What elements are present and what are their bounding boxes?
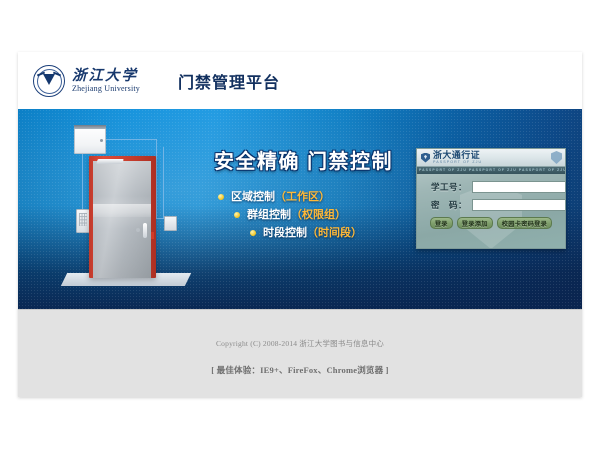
site-footer: Copyright (C) 2008-2014 浙江大学图书与信息中心 [ 最佳… bbox=[18, 309, 582, 397]
controller-box-icon bbox=[74, 125, 106, 154]
wire-right bbox=[156, 139, 157, 219]
door-handle-icon bbox=[143, 223, 147, 238]
login-panel-subtitle: PASSPORT OF ZJU bbox=[433, 160, 482, 165]
student-staff-id-label: 学工号： bbox=[425, 181, 467, 193]
feature-main: 区域控制 bbox=[231, 188, 275, 206]
slogan-title: 安全精确 门禁控制 bbox=[196, 145, 411, 174]
feature-sub: （工作区） bbox=[275, 188, 330, 206]
university-name-en: Zhejiang University bbox=[72, 84, 140, 94]
list-item: 时段控制 （时间段） bbox=[196, 224, 411, 242]
door-panel bbox=[93, 161, 151, 278]
wire-right-2 bbox=[163, 147, 164, 219]
field-row-id: 学工号： bbox=[425, 181, 557, 193]
list-item: 区域控制 （工作区） bbox=[196, 188, 411, 206]
keypad-icon bbox=[76, 209, 90, 233]
door-frame bbox=[89, 156, 156, 278]
list-item: 群组控制 （权限组） bbox=[196, 206, 411, 224]
field-row-password: 密 码： bbox=[425, 199, 557, 211]
bullet-dot-icon bbox=[250, 230, 256, 236]
passport-strip: PASSPORT OF ZJU PASSPORT OF ZJU PASSPORT… bbox=[417, 167, 565, 174]
shield-icon-decor bbox=[551, 151, 562, 164]
page-title: 门禁管理平台 bbox=[178, 69, 280, 93]
university-name-cn: 浙江大学 bbox=[72, 68, 140, 84]
university-name: 浙江大学 Zhejiang University bbox=[72, 68, 140, 94]
shield-icon bbox=[421, 153, 430, 163]
login-panel-titlebar: 浙大通行证 PASSPORT OF ZJU bbox=[417, 149, 565, 167]
browser-support-text: [ 最佳体验：IE9+、FireFox、Chrome浏览器 ] bbox=[18, 364, 582, 376]
campus-card-login-button[interactable]: 校园卡密码登录 bbox=[497, 217, 552, 229]
university-logo[interactable]: 浙江大学 Zhejiang University bbox=[33, 65, 140, 97]
login-add-button[interactable]: 登录添加 bbox=[457, 217, 493, 229]
password-input[interactable] bbox=[472, 199, 566, 211]
bullet-dot-icon bbox=[234, 212, 240, 218]
login-form: 学工号： 密 码： 登录 登录添加 校园卡密码登录 bbox=[417, 174, 565, 229]
zju-seal-icon bbox=[33, 65, 65, 97]
login-panel[interactable]: 浙大通行证 PASSPORT OF ZJU PASSPORT OF ZJU PA… bbox=[416, 148, 566, 249]
student-staff-id-input[interactable] bbox=[472, 181, 566, 193]
copyright-text: Copyright (C) 2008-2014 浙江大学图书与信息中心 bbox=[18, 338, 582, 349]
wire-to-keypad bbox=[82, 152, 83, 210]
login-panel-title: 浙大通行证 bbox=[433, 151, 482, 160]
door-access-control-illustration bbox=[56, 121, 206, 299]
door-closer bbox=[96, 159, 124, 164]
bullet-dot-icon bbox=[218, 194, 224, 200]
slogan-block: 安全精确 门禁控制 区域控制 （工作区） 群组控制 （权限组） 时段控制 （时间… bbox=[196, 145, 411, 242]
feature-main: 群组控制 bbox=[247, 206, 291, 224]
login-button[interactable]: 登录 bbox=[430, 217, 453, 229]
feature-main: 时段控制 bbox=[263, 224, 307, 242]
application-page: 浙江大学 Zhejiang University 门禁管理平台 bbox=[18, 52, 582, 397]
feature-sub: （时间段） bbox=[307, 224, 362, 242]
password-label: 密 码： bbox=[425, 199, 467, 211]
hero-banner: 安全精确 门禁控制 区域控制 （工作区） 群组控制 （权限组） 时段控制 （时间… bbox=[18, 109, 582, 309]
site-header: 浙江大学 Zhejiang University 门禁管理平台 bbox=[18, 52, 582, 109]
card-reader-icon bbox=[164, 216, 177, 231]
feature-list: 区域控制 （工作区） 群组控制 （权限组） 时段控制 （时间段） bbox=[196, 188, 411, 242]
feature-sub: （权限组） bbox=[291, 206, 346, 224]
login-actions: 登录 登录添加 校园卡密码登录 bbox=[425, 217, 557, 229]
